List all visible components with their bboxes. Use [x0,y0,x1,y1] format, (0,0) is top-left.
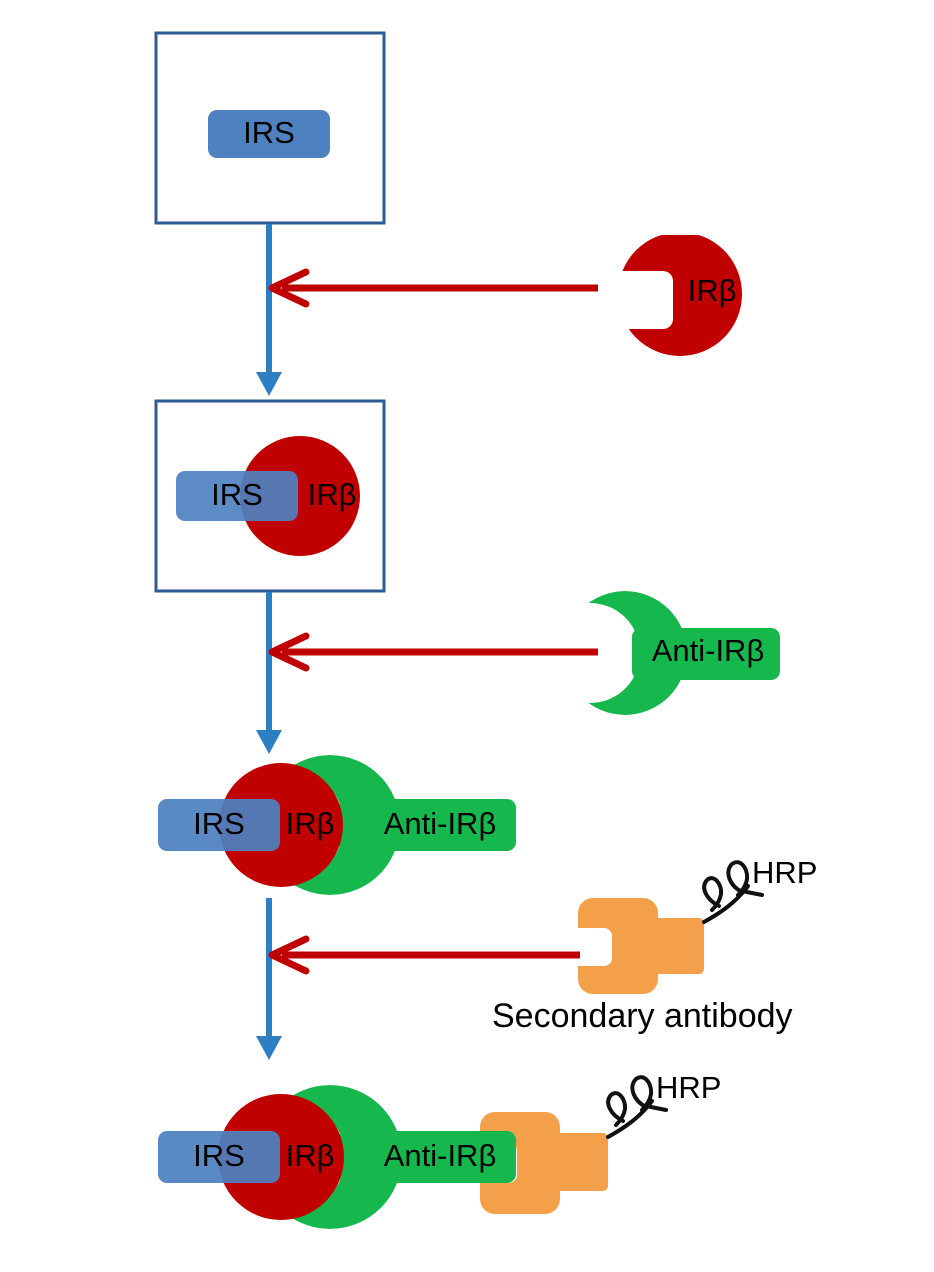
anti-ir-beta-label-step3: Anti-IRβ [384,806,497,841]
step-3-group: IRβ IRS Anti-IRβ [158,755,516,895]
diagram-canvas: IRS IRβ IRβ IRS [0,0,934,1272]
ir-beta-reagent-shape: IRβ [618,232,742,356]
flow-step3-to-step4 [256,898,282,1060]
hrp-label-reagent: HRP [752,855,817,890]
step-1-group: IRS [156,33,384,223]
irs-label-step2: IRS [211,477,263,512]
flow-step2-to-step3 [256,592,282,754]
secondary-antibody-reagent-shape [578,898,704,994]
hrp-tag-step4: HRP [608,1070,721,1137]
hrp-label-step4: HRP [656,1070,721,1105]
irs-label-step4: IRS [193,1138,245,1173]
secondary-antibody-caption: Secondary antibody [492,997,793,1035]
add-secondary-antibody-arrow [272,939,580,971]
add-anti-ir-beta-arrow [272,636,598,668]
ir-beta-label-step4: IRβ [286,1138,335,1173]
irs-label-step1: IRS [243,115,295,150]
irs-label-step3: IRS [193,806,245,841]
secondary-antibody-tail-step4 [548,1133,608,1191]
immunoassay-workflow-diagram: IRS IRβ IRβ IRS [0,0,934,1272]
anti-ir-beta-label-step4: Anti-IRβ [384,1138,497,1173]
ir-beta-label-step3: IRβ [286,806,335,841]
flow-step1-to-step2 [256,224,282,396]
step-4-group: HRP IRβ IRS Anti-IRβ [158,1070,721,1229]
hrp-tag-reagent: HRP [704,855,817,922]
anti-ir-beta-label-reagent: Anti-IRβ [652,633,765,668]
ir-beta-label-step2: IRβ [308,477,357,512]
step-2-group: IRβ IRS [156,401,384,591]
ir-beta-label-reagent: IRβ [688,273,737,308]
add-ir-beta-arrow [272,272,598,304]
anti-ir-beta-reagent-shape: Anti-IRβ [563,591,780,715]
